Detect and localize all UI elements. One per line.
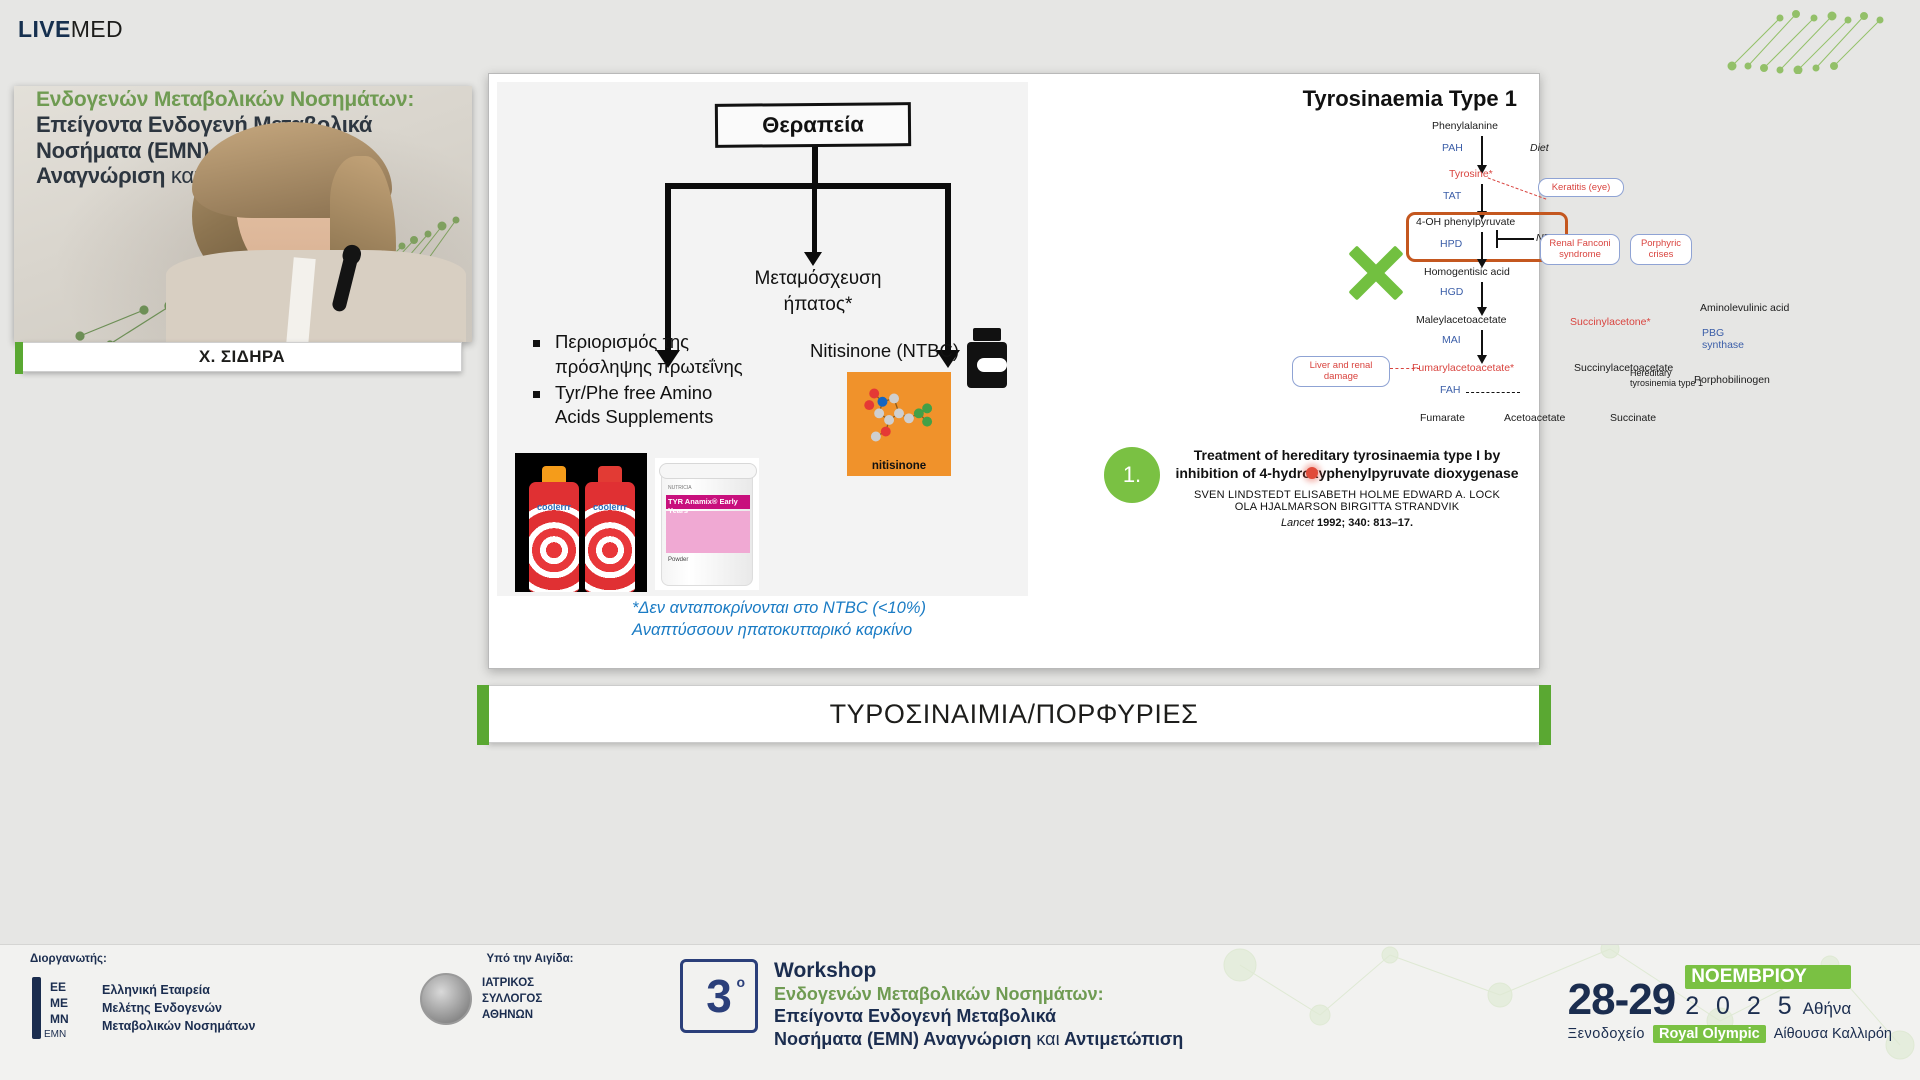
therapy-title-text: Θεραπεία xyxy=(762,112,864,139)
citation-journal: Lancet 1992; 340: 813–17. xyxy=(1167,517,1527,529)
pathway-node-succinate: Succinate xyxy=(1610,412,1656,424)
organizer-name: Ελληνική Εταιρεία Μελέτης Ενδογενών Μετα… xyxy=(102,981,255,1035)
aegis-name: ΙΑΤΡΙΚΟΣ ΣΥΛΛΟΓΟΣ ΑΘΗΝΩΝ xyxy=(482,975,542,1023)
nitisinone-molecule-image: nitisinone xyxy=(847,372,951,476)
flow-line-stem xyxy=(812,147,818,187)
fah-dash-line xyxy=(1466,392,1520,393)
speaker-figure xyxy=(162,116,472,342)
pathway-node-homogentisic: Homogentisic acid xyxy=(1424,266,1510,278)
organizer-heading: Διοργανωτής: xyxy=(30,953,360,965)
pathway-node-4oh: 4-OH phenylpyruvate xyxy=(1416,216,1515,228)
pathway-enzyme-pbg: PBG synthase xyxy=(1702,328,1744,351)
pathway-node-fumarate: Fumarate xyxy=(1420,412,1465,424)
event-number-text: 3 xyxy=(706,973,732,1019)
metabolic-pathway-diagram: Phenylalanine PAH Tyrosine* TAT 4-OH phe… xyxy=(1034,116,1533,446)
treatment-bullet-list: Περιορισμός της πρόσληψης πρωτεΐνης Tyr/… xyxy=(529,330,759,431)
footnote-line-1: *Δεν ανταποκρίνονται στο NTBC (<10%) xyxy=(632,597,1052,619)
pouch-label-2: coolerrr xyxy=(585,502,635,512)
flow-line-middle xyxy=(812,183,817,256)
journal-volume: 340 xyxy=(1348,517,1366,529)
pathway-arrow-3 xyxy=(1481,232,1483,260)
pathway-node-phenylalanine: Phenylalanine xyxy=(1432,120,1498,132)
ntbc-inhibition-bar xyxy=(1496,230,1498,248)
citation-block: Treatment of hereditary tyrosinaemia typ… xyxy=(1167,447,1527,529)
footnote-line-2: Αναπτύσσουν ηπατοκυτταρικό καρκίνο xyxy=(632,619,1052,641)
list-item: Περιορισμός της πρόσληψης πρωτεΐνης xyxy=(529,330,759,380)
pathway-arrow-1 xyxy=(1481,136,1483,166)
pathway-enzyme-hgd: HGD xyxy=(1440,286,1463,298)
session-title-bar: ΤΥΡΟΣΙΝΑΙΜΙΑ/ΠΟΡΦΥΡΙΕΣ xyxy=(488,685,1540,743)
pathway-enzyme-hpd: HPD xyxy=(1440,238,1462,250)
molecule-diagram-icon xyxy=(847,372,951,458)
treatment-flow-panel: Θεραπεία Μεταμόσχευση ήπατος* Περιορισμό… xyxy=(497,82,1028,596)
svg-text:ΕΜΝ: ΕΜΝ xyxy=(44,1029,66,1040)
flow-line-right xyxy=(945,183,951,355)
pathway-enzyme-pah: PAH xyxy=(1442,142,1463,154)
pathway-enzyme-mai: MAI xyxy=(1442,334,1461,346)
nitisinone-label: Nitisinone (NTBC) xyxy=(797,340,972,362)
event-title-part-3: Αντιμετώπιση xyxy=(1064,1029,1183,1049)
event-identity-block: 3 ο Workshop Ενδογενών Μεταβολικών Νοσημ… xyxy=(680,959,1183,1051)
app-root: LIVEMED Ενδογενών Μεταβολικών Νοσημάτων:… xyxy=(0,0,1920,1080)
event-number-superscript: ο xyxy=(736,974,745,990)
event-city: Αθήνα xyxy=(1803,999,1852,1019)
citation-title: Treatment of hereditary tyrosinaemia typ… xyxy=(1167,447,1527,482)
slide-step-badge: 1. xyxy=(1104,447,1160,503)
pill-bottle-icon xyxy=(965,328,1009,388)
product-photo-pouches: coolerrr coolerrr xyxy=(515,453,647,592)
event-title-part-2: και xyxy=(1036,1029,1059,1049)
backdrop-line-4a: Αναγνώριση xyxy=(36,163,165,188)
pathway-node-maleylacetoacetate: Maleylacetoacetate xyxy=(1416,314,1506,326)
event-title-line-a: Επείγοντα Ενδογενή Μεταβολικά xyxy=(774,1006,1183,1028)
venue-name: Royal Olympic xyxy=(1653,1025,1766,1043)
ntbc-inhibition-line xyxy=(1496,238,1534,240)
pathway-enzyme-fah: FAH xyxy=(1440,384,1460,396)
list-item: Tyr/Phe free Amino Acids Supplements xyxy=(529,381,759,431)
event-edition-number: 3 ο xyxy=(680,959,758,1033)
event-dates: 28-29 xyxy=(1568,979,1676,1021)
therapy-title-box: Θεραπεία xyxy=(715,102,911,148)
organizer-logo-icon: ΕΕ ΜΕ ΜΝ ΕΜΝ xyxy=(30,975,90,1041)
chip-porphyric-crises: Porphyric crises xyxy=(1630,234,1692,265)
logo-live-text: LIVE xyxy=(18,16,71,42)
flow-line-horizontal xyxy=(665,183,950,189)
svg-text:ΜΝ: ΜΝ xyxy=(50,1012,69,1026)
session-title-text: ΤΥΡΟΣΙΝΑΙΜΙΑ/ΠΟΡΦΥΡΙΕΣ xyxy=(830,699,1199,730)
blocked-pathway-x-icon xyxy=(1344,242,1406,304)
pathway-node-tyrosine: Tyrosine* xyxy=(1449,168,1493,180)
event-title-part-1: Νοσήματα (ΕΜΝ) Αναγνώριση xyxy=(774,1029,1031,1049)
pathway-node-aminolevulinic: Aminolevulinic acid xyxy=(1700,302,1789,314)
pathway-arrow-5 xyxy=(1481,330,1483,356)
nitisinone-image-caption: nitisinone xyxy=(847,460,951,472)
event-footer: Διοργανωτής: ΕΕ ΜΕ ΜΝ ΕΜΝ Ελληνική Εταιρ… xyxy=(0,944,1920,1080)
speaker-torso xyxy=(166,250,466,342)
tyrosinaemia-title: Tyrosinaemia Type 1 xyxy=(1303,86,1517,112)
aegis-heading: Υπό την Αιγίδα: xyxy=(420,953,640,965)
pathway-arrow-4 xyxy=(1481,282,1483,308)
event-month: ΝΟΕΜΒΡΙΟΥ xyxy=(1685,965,1851,989)
event-title-line-b: Νοσήματα (ΕΜΝ) Αναγνώριση και Αντιμετώπι… xyxy=(774,1029,1183,1051)
venue-label: Ξενοδοχείο xyxy=(1568,1026,1645,1042)
can-brand-text: NUTRICIA xyxy=(668,485,692,491)
svg-text:ΕΕ: ΕΕ xyxy=(50,980,66,994)
dash-to-liver-damage xyxy=(1390,368,1420,369)
event-date-block: 28-29 ΝΟΕΜΒΡΙΟΥ 2 0 2 5 Αθήνα Ξενοδοχείο… xyxy=(1568,965,1892,1043)
event-subtitle: Ενδογενών Μεταβολικών Νοσημάτων: xyxy=(774,984,1183,1005)
speaker-name-plate: Χ. ΣΙΔΗΡΑ xyxy=(22,342,462,372)
event-year: 2 0 2 5 xyxy=(1685,992,1796,1021)
product-photo-can: NUTRICIA TYR Anamix® Early Years Powder xyxy=(655,458,759,590)
pathway-side-label: Hereditary tyrosinemia type 1 xyxy=(1630,368,1720,389)
pathway-node-acetoacetate: Acetoacetate xyxy=(1504,412,1565,424)
tyrosinaemia-panel: Tyrosinaemia Type 1 Phenylalanine PAH Ty… xyxy=(1034,82,1533,662)
can-product-name: TYR Anamix® Early Years xyxy=(668,497,752,515)
pathway-arrow-2 xyxy=(1481,184,1483,212)
presentation-slide[interactable]: Θεραπεία Μεταμόσχευση ήπατος* Περιορισμό… xyxy=(488,73,1540,669)
flow-arrow-middle xyxy=(804,252,822,266)
mouse-cursor-highlight xyxy=(1306,467,1318,479)
chip-renal-fanconi: Renal Fanconi syndrome xyxy=(1540,234,1620,265)
journal-rest: 1992; xyxy=(1314,517,1348,529)
pouch-label-1: coolerrr xyxy=(529,502,579,512)
organizer-block: Διοργανωτής: ΕΕ ΜΕ ΜΝ ΕΜΝ Ελληνική Εταιρ… xyxy=(30,953,360,1041)
livemed-logo: LIVEMED xyxy=(18,16,123,43)
backdrop-line-1: Ενδογενών Μεταβολικών Νοσημάτων: xyxy=(36,88,456,112)
journal-name: Lancet xyxy=(1281,517,1314,529)
pathway-diet-label: Diet xyxy=(1530,142,1549,154)
venue-hall: Αίθουσα Καλλιρόη xyxy=(1774,1026,1892,1042)
logo-med-text: MED xyxy=(71,16,123,42)
can-sub-text: Powder xyxy=(668,557,688,563)
speaker-name-text: Χ. ΣΙΔΗΡΑ xyxy=(199,347,285,367)
decorative-dots-header xyxy=(1722,4,1892,74)
journal-pages: : 813–17. xyxy=(1367,517,1413,529)
chip-keratitis: Keratitis (eye) xyxy=(1538,178,1624,197)
pathway-node-fumarylacetoacetate: Fumarylacetoacetate* xyxy=(1412,362,1514,374)
aegis-block: Υπό την Αιγίδα: ΙΑΤΡΙΚΟΣ ΣΥΛΛΟΓΟΣ ΑΘΗΝΩΝ xyxy=(420,953,640,1025)
slide-footnote: *Δεν ανταποκρίνονται στο NTBC (<10%) Ανα… xyxy=(632,597,1052,642)
svg-text:ΜΕ: ΜΕ xyxy=(50,996,68,1010)
pathway-enzyme-tat: TAT xyxy=(1443,190,1461,202)
chip-liver-renal-damage: Liver and renal damage xyxy=(1292,356,1390,387)
citation-authors-1: SVEN LINDSTEDT ELISABETH HOLME EDWARD A.… xyxy=(1167,489,1527,501)
event-type: Workshop xyxy=(774,959,1183,983)
liver-transplant-label: Μεταμόσχευση ήπατος* xyxy=(729,266,907,317)
medical-association-seal-icon xyxy=(420,973,472,1025)
pathway-node-succinylacetone: Succinylacetone* xyxy=(1570,316,1651,328)
speaker-video-tile[interactable]: Ενδογενών Μεταβολικών Νοσημάτων: Επείγον… xyxy=(14,86,472,342)
citation-authors-2: OLA HJALMARSON BIRGITTA STRANDVIK xyxy=(1167,501,1527,513)
